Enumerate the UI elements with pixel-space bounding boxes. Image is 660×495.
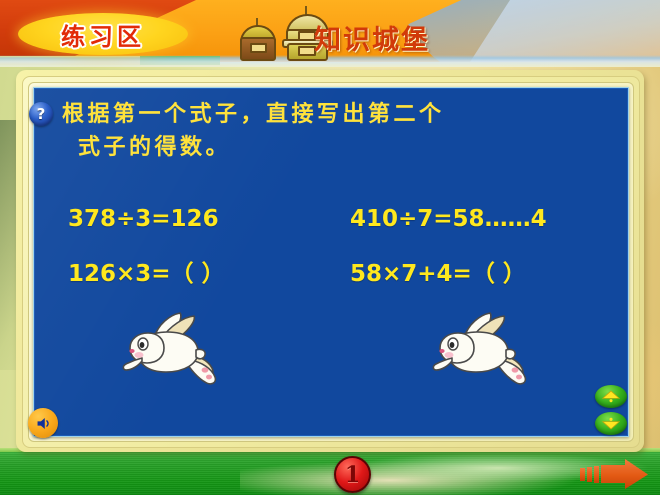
knowledge-castle-title: 知识城堡 <box>314 18 430 57</box>
question-line-1: 根据第一个式子，直接写出第二个 <box>62 101 445 127</box>
arrow-down-icon[interactable] <box>595 412 627 435</box>
slide-canvas: 练习区 知识城堡 ? 根据第一个式子，直接写出第二个 式子的得数。 378÷3=… <box>0 0 660 495</box>
question-line-2: 式子的得数。 <box>78 131 622 164</box>
speaker-icon[interactable] <box>28 408 58 438</box>
castle-tower-small-icon <box>236 18 280 60</box>
equation-left-answer[interactable]: 126×3=（ ） <box>68 254 225 288</box>
question-prompt: 根据第一个式子，直接写出第二个 式子的得数。 <box>62 98 622 164</box>
jumping-rabbit-icon <box>112 308 232 388</box>
arrow-right-icon[interactable] <box>578 458 650 490</box>
practice-zone-label: 练习区 <box>18 13 188 55</box>
equation-right-answer[interactable]: 58×7+4=（ ） <box>350 254 526 288</box>
equation-left-given: 378÷3=126 <box>68 206 219 232</box>
equation-right-given: 410÷7=58……4 <box>350 206 547 232</box>
arrow-up-icon[interactable] <box>595 385 627 408</box>
page-number-badge[interactable]: 1 <box>334 456 371 493</box>
jumping-rabbit-icon <box>422 308 542 388</box>
question-mark-icon: ? <box>29 102 53 126</box>
